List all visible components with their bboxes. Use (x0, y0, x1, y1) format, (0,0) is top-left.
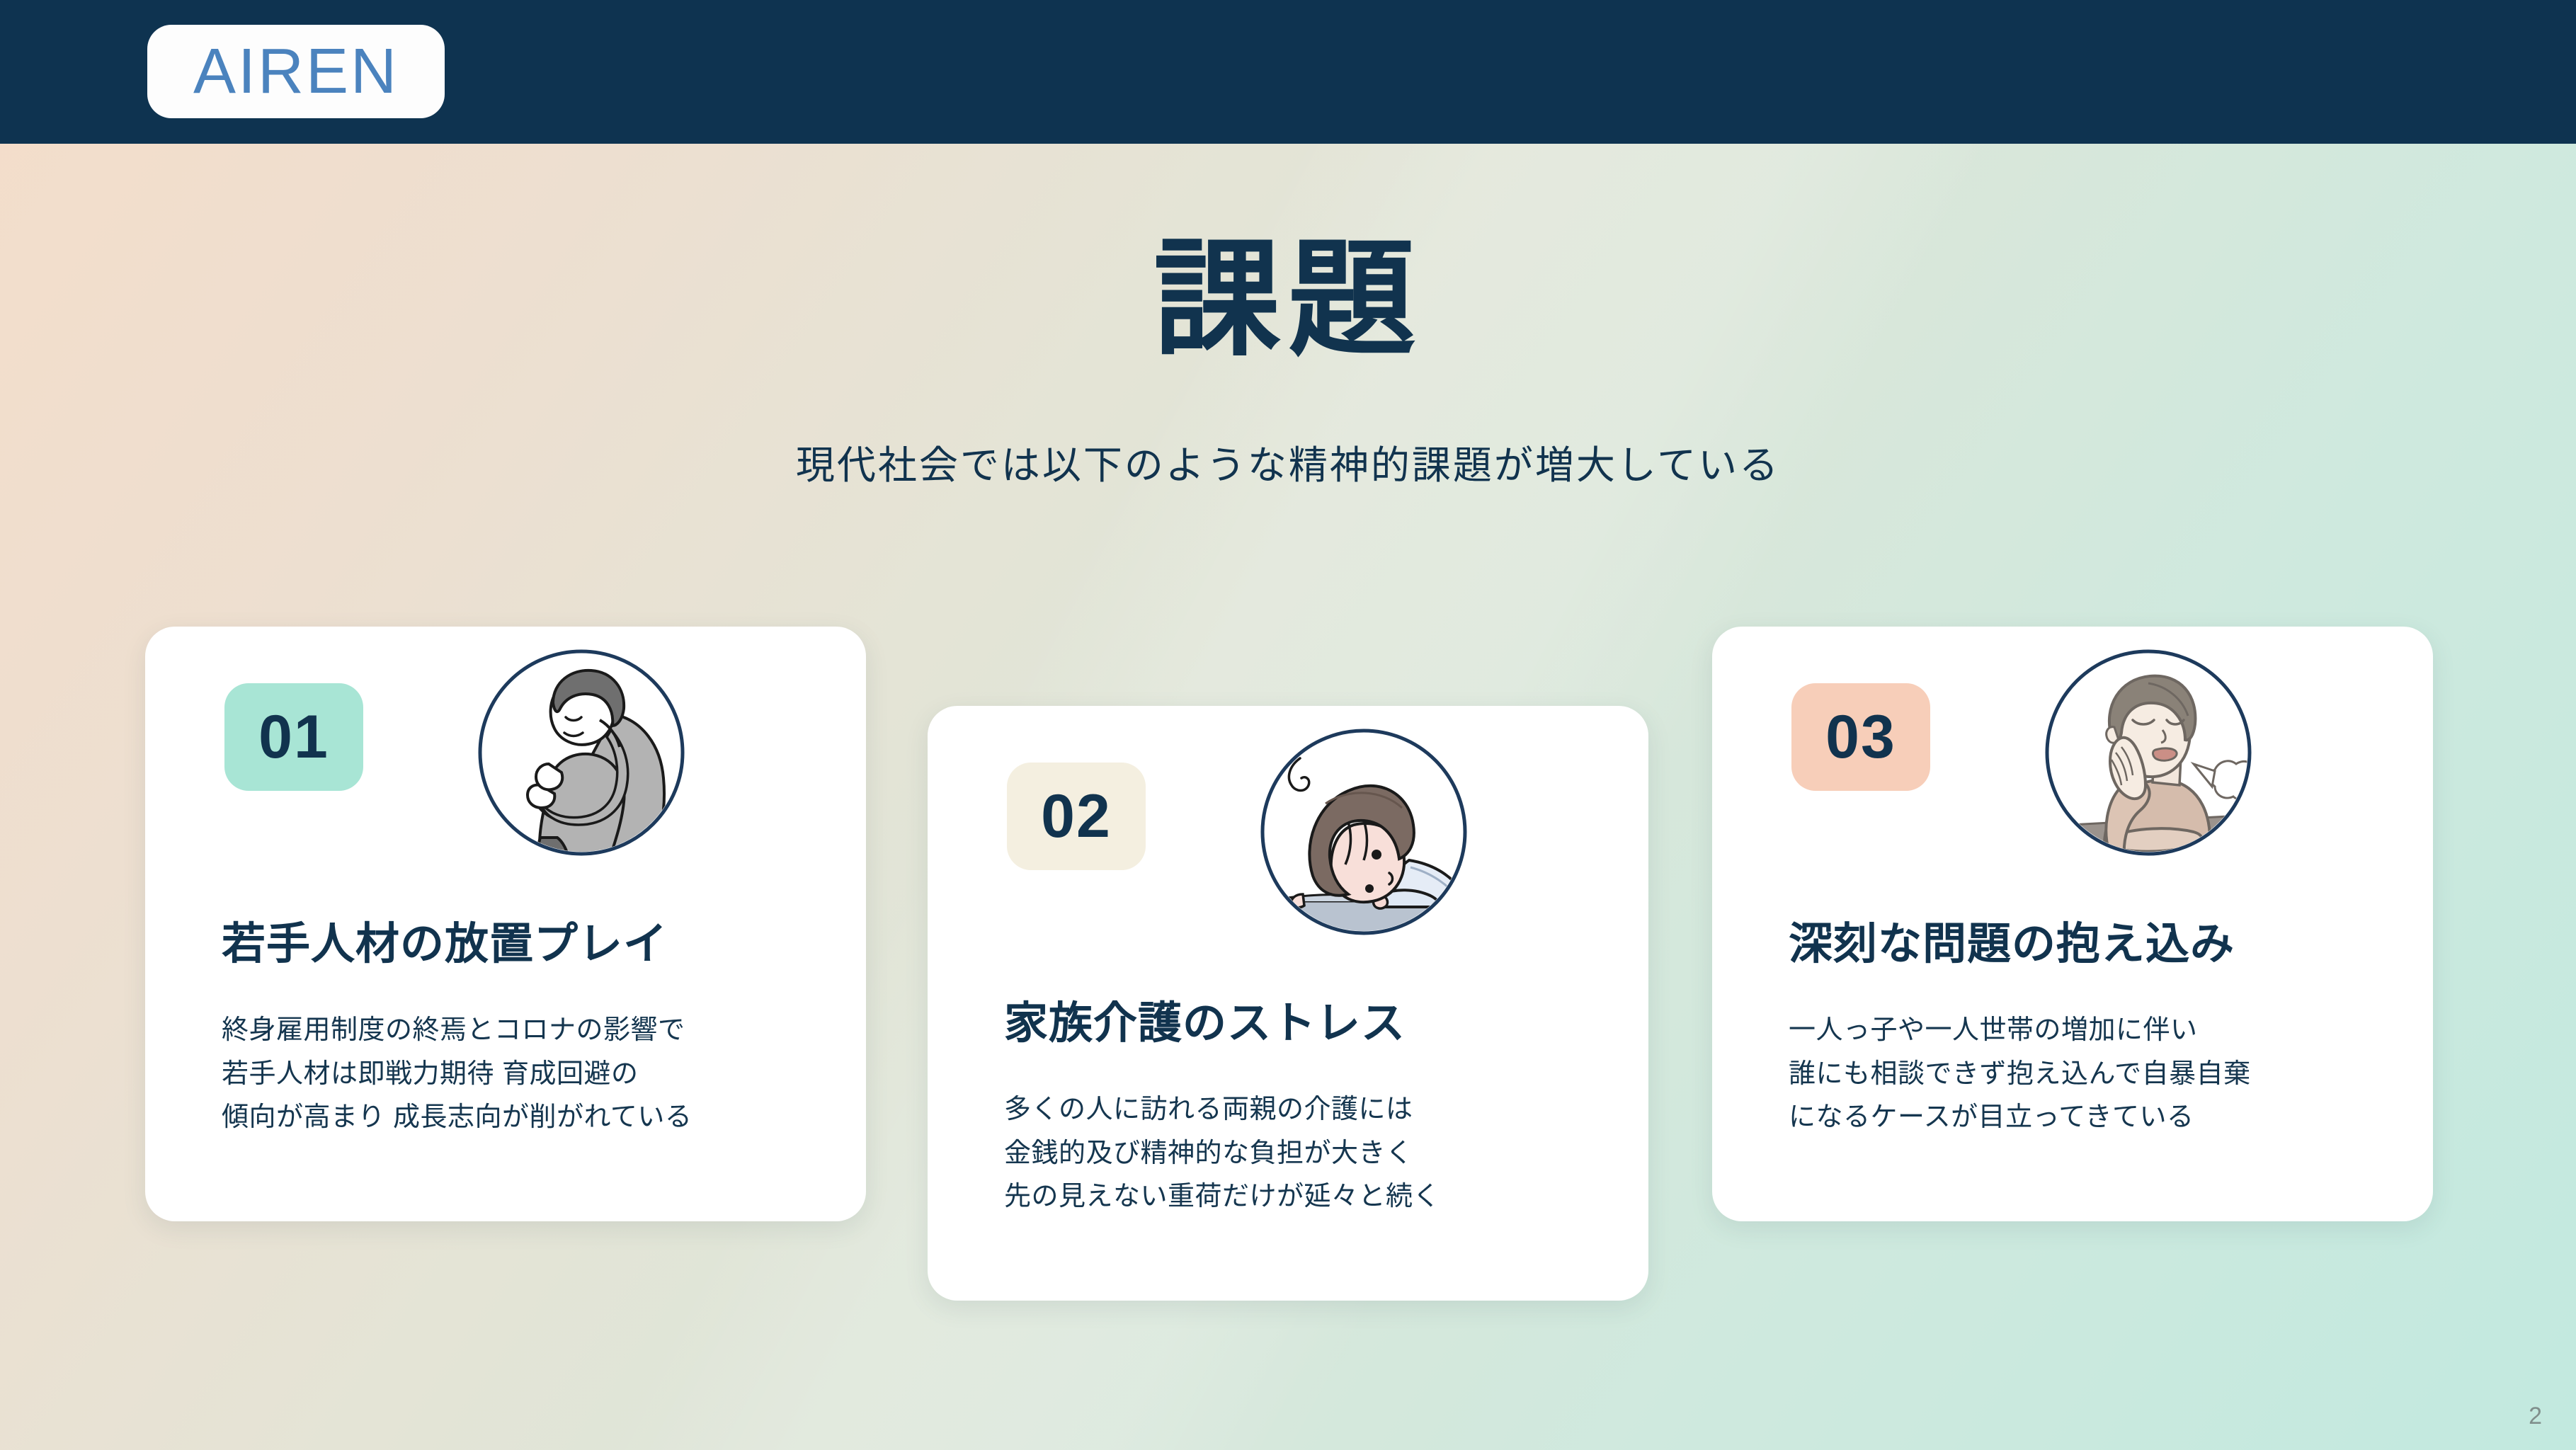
card-body-line: 終身雇用制度の終焉とコロナの影響で (222, 1009, 845, 1053)
card-number-label: 03 (1825, 707, 1896, 767)
page-number: 2 (2529, 1403, 2542, 1430)
logo-badge[interactable]: AIREN (147, 25, 445, 118)
person-sighing-hand-on-cheek-icon (2042, 646, 2255, 859)
header-bar: AIREN (0, 0, 2576, 144)
slide-canvas: AIREN 課題 現代社会では以下のような精神的課題が増大している 01 (0, 0, 2576, 1450)
card-title: 家族介護のストレス (1004, 998, 1613, 1049)
challenge-card-02[interactable]: 02 (928, 706, 1648, 1301)
card-number-label: 02 (1041, 786, 1112, 847)
card-body: 多くの人に訪れる両親の介護には 金銭的及び精神的な負担が大きく 先の見えない重荷… (1004, 1088, 1627, 1219)
card-body-line: になるケースが目立ってきている (1789, 1096, 2412, 1140)
card-body-line: 傾向が高まり 成長志向が削がれている (222, 1096, 845, 1140)
page-subtitle: 現代社会では以下のような精神的課題が増大している (0, 433, 2576, 490)
card-number-badge: 03 (1791, 683, 1930, 791)
card-title: 深刻な問題の抱え込み (1789, 918, 2398, 970)
card-number-badge: 02 (1007, 763, 1146, 870)
person-hugging-knees-icon (475, 646, 688, 859)
card-body-line: 多くの人に訪れる両親の介護には (1004, 1088, 1627, 1132)
challenge-card-01[interactable]: 01 (145, 627, 866, 1221)
card-body-line: 金銭的及び精神的な負担が大きく (1004, 1132, 1627, 1176)
card-body-line: 一人っ子や一人世帯の増加に伴い (1789, 1009, 2412, 1053)
logo-text: AIREN (193, 40, 399, 103)
card-body-line: 誰にも相談できず抱え込んで自暴自棄 (1789, 1053, 2412, 1097)
card-body: 一人っ子や一人世帯の増加に伴い 誰にも相談できず抱え込んで自暴自棄 になるケース… (1789, 1009, 2412, 1140)
card-number-badge: 01 (224, 683, 363, 791)
card-number-label: 01 (258, 707, 329, 767)
person-face-down-on-desk-icon (1258, 726, 1470, 938)
card-body-line: 若手人材は即戦力期待 育成回避の (222, 1053, 845, 1097)
page-title: 課題 (0, 230, 2576, 370)
card-title: 若手人材の放置プレイ (222, 918, 831, 970)
challenge-card-03[interactable]: 03 (1712, 627, 2433, 1221)
card-body-line: 先の見えない重荷だけが延々と続く (1004, 1175, 1627, 1219)
card-body: 終身雇用制度の終焉とコロナの影響で 若手人材は即戦力期待 育成回避の 傾向が高ま… (222, 1009, 845, 1140)
